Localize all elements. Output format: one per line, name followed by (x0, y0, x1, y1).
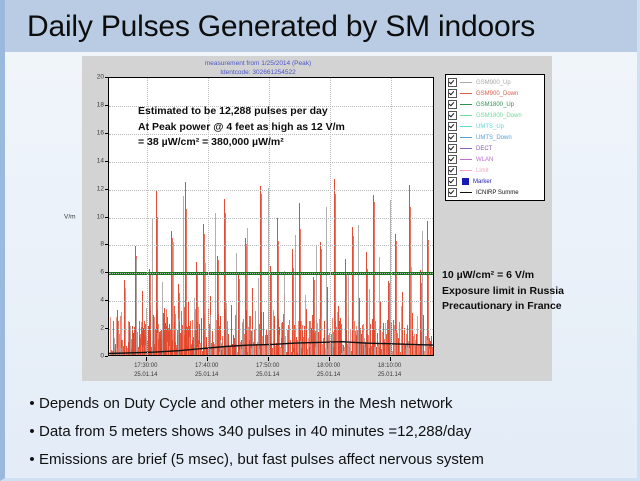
legend-item[interactable]: Marker (448, 176, 542, 187)
legend-item[interactable]: GSM1800_Up (448, 99, 542, 110)
legend-checkbox[interactable] (448, 155, 457, 164)
legend-checkbox[interactable] (448, 122, 457, 131)
x-axis-tick-label: 17:40:0025.01.14 (187, 362, 227, 379)
annotation-estimate-line: = 38 µW/cm² = 380,000 µW/m² (138, 135, 378, 151)
x-axis-tick-mark (329, 357, 330, 361)
x-axis-tick-mark (207, 357, 208, 361)
page-title: Daily Pulses Generated by SM indoors (27, 4, 627, 50)
annotation-limit-line: Precautionary in France (442, 299, 640, 315)
legend-item-label: DECT (476, 146, 492, 152)
icnirp-summe-polyline (109, 342, 434, 354)
x-axis-tick-time: 17:40:00 (187, 362, 227, 371)
gridline-horizontal (109, 301, 433, 302)
legend-checkbox[interactable] (448, 188, 457, 197)
x-axis-tick-date: 25.01.14 (309, 371, 349, 380)
y-axis-tick-label: 10 (97, 213, 104, 220)
legend-color-swatch (460, 93, 472, 94)
chart-caption-line1: measurement from 1/25/2014 (Peak) (82, 59, 434, 68)
gridline-vertical (391, 78, 392, 355)
bullet-text: Depends on Duty Cycle and other meters i… (39, 392, 453, 416)
y-axis: 02468101214161820V/m (82, 77, 108, 356)
legend-item-label: WLAN (476, 157, 493, 163)
bullet-text: Data from 5 meters shows 340 pulses in 4… (39, 420, 471, 444)
y-axis-tick-label: 6 (100, 269, 104, 276)
legend-color-swatch (460, 192, 472, 193)
legend-item-label: Limit (476, 168, 489, 174)
x-axis-tick-date: 25.01.14 (248, 371, 288, 380)
legend-item[interactable]: DECT (448, 143, 542, 154)
y-axis-tick-label: 18 (97, 101, 104, 108)
legend-item[interactable]: GSM1800_Down (448, 110, 542, 121)
annotation-exposure-limit: 10 µW/cm² = 6 V/mExposure limit in Russi… (442, 268, 640, 315)
y-axis-tick-label: 4 (100, 297, 104, 304)
annotation-estimate-line: Estimated to be 12,288 pulses per day (138, 104, 378, 120)
x-axis-tick-mark (390, 357, 391, 361)
x-axis-tick-time: 18:00:00 (309, 362, 349, 371)
gridline-horizontal (109, 162, 433, 163)
legend-color-swatch (460, 126, 472, 127)
x-axis-tick-label: 17:50:0025.01.14 (248, 362, 288, 379)
legend-color-swatch (460, 159, 472, 160)
y-axis-tick-label: 16 (97, 129, 104, 136)
legend-checkbox[interactable] (448, 144, 457, 153)
legend-color-swatch (460, 115, 472, 116)
x-axis-tick-time: 17:50:00 (248, 362, 288, 371)
legend-item[interactable]: ICNIRP Summe (448, 187, 542, 198)
bullet-dot-icon: • (25, 420, 39, 444)
x-axis-tick-mark (146, 357, 147, 361)
y-axis-tick-label: 2 (100, 325, 104, 332)
x-axis-tick-label: 17:30:0025.01.14 (126, 362, 166, 379)
y-axis-title: V/m (64, 213, 76, 220)
annotation-limit-line: 10 µW/cm² = 6 V/m (442, 268, 640, 284)
legend-item-label: UMTS_Up (476, 124, 504, 130)
legend-color-swatch (460, 82, 472, 83)
legend-color-swatch (460, 170, 472, 171)
legend-checkbox[interactable] (448, 111, 457, 120)
x-axis-tick-date: 25.01.14 (370, 371, 410, 380)
legend-marker-square (462, 178, 469, 185)
annotation-estimate-line: At Peak power @ 4 feet as high as 12 V/m (138, 120, 378, 136)
x-axis-tick-date: 25.01.14 (187, 371, 227, 380)
bullet-dot-icon: • (25, 392, 39, 416)
legend-item[interactable]: UMTS_Up (448, 121, 542, 132)
legend-item[interactable]: Limit (448, 165, 542, 176)
annotation-limit-line: Exposure limit in Russia (442, 284, 640, 300)
chart-legend: GSM900_UpGSM900_DownGSM1800_UpGSM1800_Do… (445, 74, 545, 201)
legend-item-label: ICNIRP Summe (476, 190, 519, 196)
annotation-estimate: Estimated to be 12,288 pulses per dayAt … (138, 104, 378, 151)
legend-color-swatch (460, 137, 472, 138)
bullet-text: Emissions are brief (5 msec), but fast p… (39, 448, 484, 472)
x-axis-tick-date: 25.01.14 (126, 371, 166, 380)
y-axis-tick-label: 14 (97, 157, 104, 164)
legend-checkbox[interactable] (448, 166, 457, 175)
legend-item-label: GSM1800_Up (476, 102, 514, 108)
legend-item[interactable]: GSM900_Down (448, 88, 542, 99)
legend-item-label: GSM900_Down (476, 91, 518, 97)
legend-item-label: GSM900_Up (476, 80, 511, 86)
legend-checkbox[interactable] (448, 78, 457, 87)
bullet-dot-icon: • (25, 448, 39, 472)
gridline-horizontal (109, 273, 433, 274)
gridline-horizontal (109, 218, 433, 219)
y-axis-tick-label: 20 (97, 74, 104, 81)
legend-item[interactable]: WLAN (448, 154, 542, 165)
x-axis-tick-time: 17:30:00 (126, 362, 166, 371)
x-axis-tick-time: 18:10:00 (370, 362, 410, 371)
legend-color-swatch (460, 148, 472, 149)
slide: Daily Pulses Generated by SM indoors mea… (0, 0, 640, 481)
legend-checkbox[interactable] (448, 100, 457, 109)
gridline-horizontal (109, 329, 433, 330)
legend-item-label: Marker (473, 179, 492, 185)
x-axis-tick-label: 18:00:0025.01.14 (309, 362, 349, 379)
chart-caption-line2: Identcode: 302661254522 (82, 68, 434, 77)
y-axis-tick-label: 8 (100, 241, 104, 248)
x-axis-tick-mark (268, 357, 269, 361)
legend-color-swatch (460, 104, 472, 105)
legend-checkbox[interactable] (448, 177, 457, 186)
bullet-item: •Data from 5 meters shows 340 pulses in … (25, 420, 639, 444)
legend-checkbox[interactable] (448, 89, 457, 98)
legend-item[interactable]: UMTS_Down (448, 132, 542, 143)
legend-checkbox[interactable] (448, 133, 457, 142)
x-axis: 17:30:0025.01.1417:40:0025.01.1417:50:00… (108, 357, 434, 381)
chart-caption: measurement from 1/25/2014 (Peak) Identc… (82, 59, 434, 77)
bullet-item: •Emissions are brief (5 msec), but fast … (25, 448, 639, 472)
gridline-horizontal (109, 245, 433, 246)
x-axis-tick-label: 18:10:0025.01.14 (370, 362, 410, 379)
bullet-item: •Depends on Duty Cycle and other meters … (25, 392, 639, 416)
legend-item-label: UMTS_Down (476, 135, 512, 141)
y-axis-tick-label: 0 (100, 353, 104, 360)
gridline-horizontal (109, 190, 433, 191)
legend-item-label: GSM1800_Down (476, 113, 522, 119)
pulse-spike (433, 352, 434, 355)
y-axis-tick-label: 12 (97, 185, 104, 192)
bullet-list: •Depends on Duty Cycle and other meters … (25, 392, 639, 476)
legend-item[interactable]: GSM900_Up (448, 77, 542, 88)
